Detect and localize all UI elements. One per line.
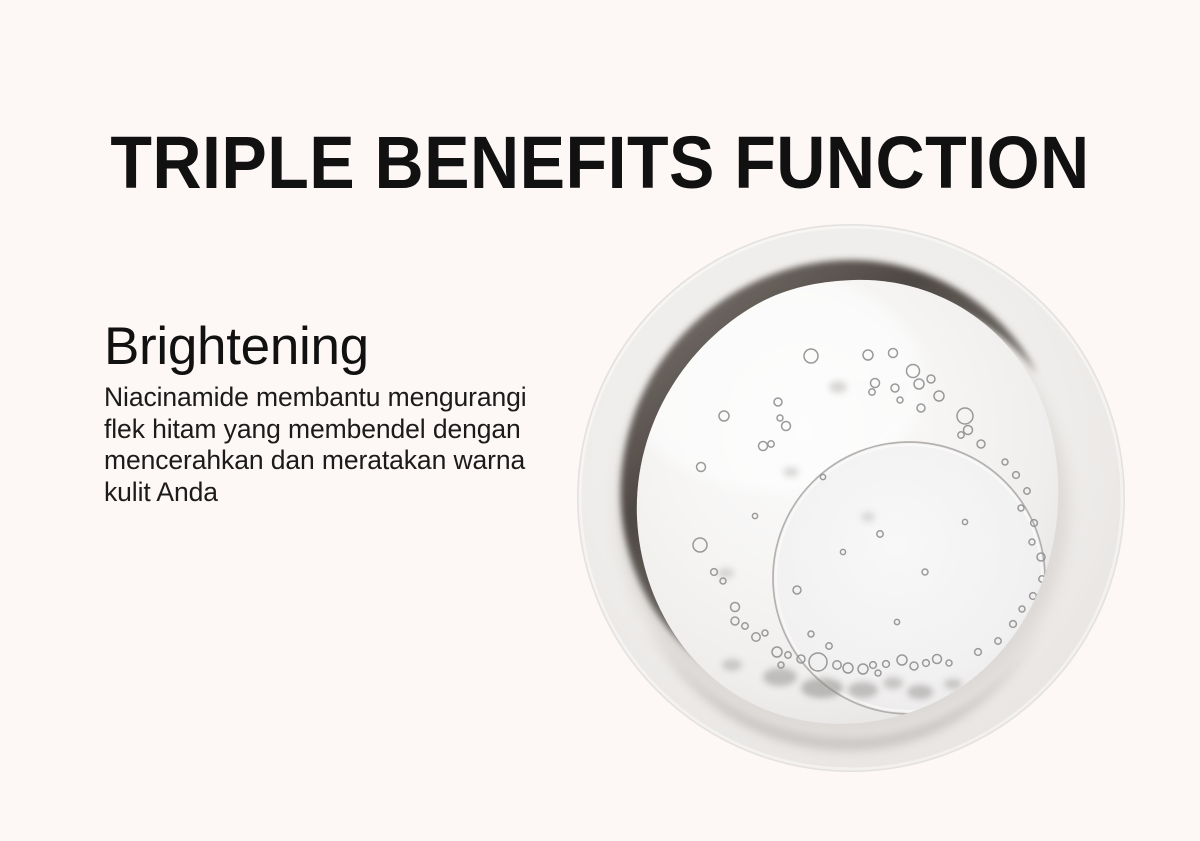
benefit-heading: Brightening	[104, 318, 574, 376]
page-title: TRIPLE BENEFITS FUNCTION	[48, 124, 1152, 202]
gel-droplet-image	[575, 222, 1127, 774]
benefit-description: Niacinamide membantu mengurangi flek hit…	[104, 382, 564, 508]
benefit-text-block: Brightening Niacinamide membantu mengura…	[104, 318, 574, 508]
gel-droplet-illustration	[575, 222, 1127, 774]
promo-banner: TRIPLE BENEFITS FUNCTION Brightening Nia…	[0, 0, 1200, 841]
